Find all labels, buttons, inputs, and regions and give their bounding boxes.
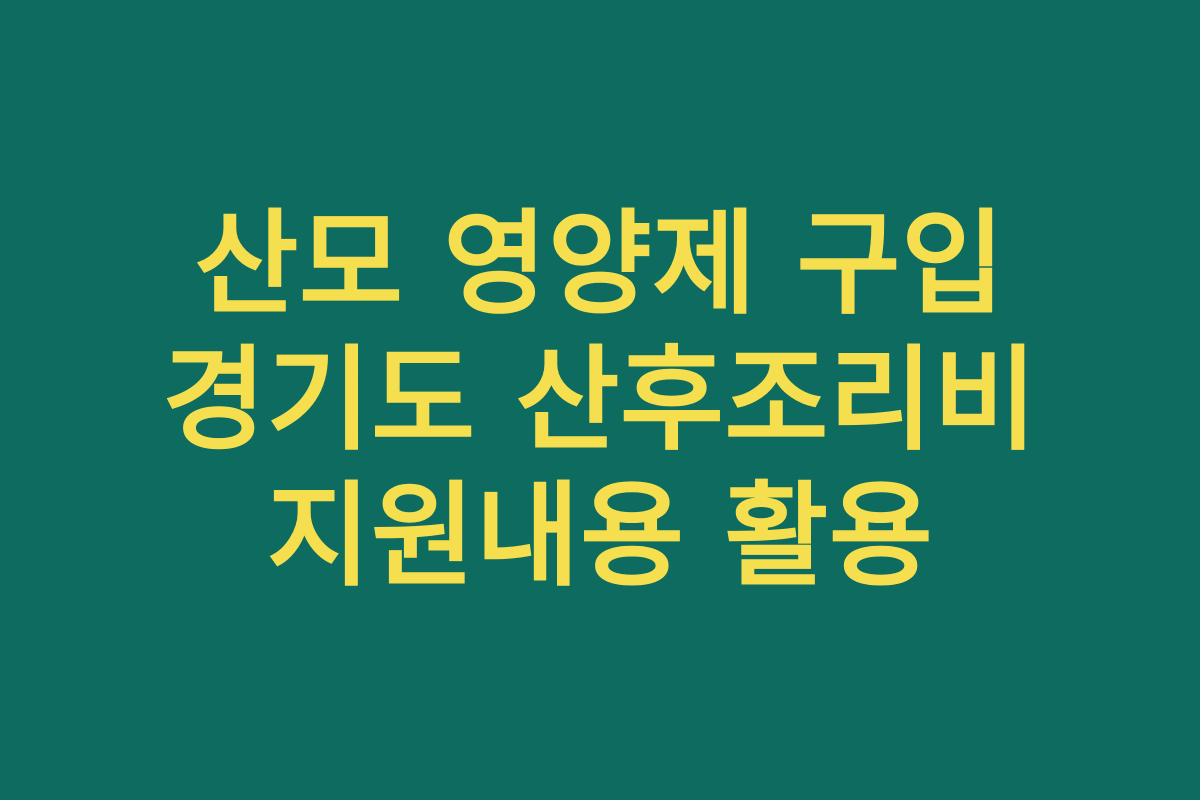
headline-block: 산모 영양제 구입 경기도 산후조리비 지원내용 활용 bbox=[84, 196, 1116, 604]
page-title: 산모 영양제 구입 경기도 산후조리비 지원내용 활용 bbox=[84, 196, 1116, 604]
banner-canvas: 산모 영양제 구입 경기도 산후조리비 지원내용 활용 bbox=[0, 0, 1200, 800]
